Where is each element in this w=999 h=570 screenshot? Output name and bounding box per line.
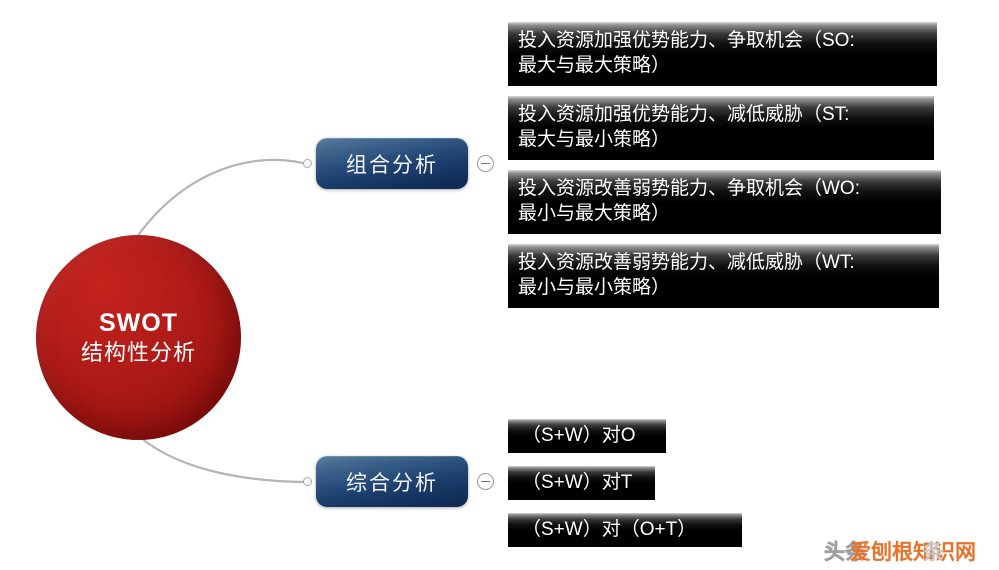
watermark: 头条 爱刨根知识网 条 <box>824 536 994 564</box>
mindmap-canvas: SWOT 结构性分析 组合分析 综合分析 投入资源加强优势能力、争取机会（SO:… <box>0 0 999 570</box>
root-node[interactable]: SWOT 结构性分析 <box>36 235 241 440</box>
branch-node-combined[interactable]: 组合分析 <box>316 138 468 189</box>
leaf-box-sw-ot[interactable]: （S+W）对（O+T） <box>508 513 742 547</box>
leaf-box-so[interactable]: 投入资源加强优势能力、争取机会（SO: 最大与最大策略） <box>508 22 937 86</box>
leaf-box-wt[interactable]: 投入资源改善弱势能力、减低威胁（WT: 最小与最小策略） <box>508 244 939 308</box>
watermark-accent: 爱刨根知识网 <box>850 536 976 566</box>
minus-circle-icon-combined[interactable] <box>477 155 494 172</box>
connector-endpoint-overall <box>303 477 312 486</box>
branch-label-combined: 组合分析 <box>346 149 438 179</box>
leaf-box-wo[interactable]: 投入资源改善弱势能力、争取机会（WO: 最小与最大策略） <box>508 170 941 234</box>
root-title-en: SWOT <box>99 309 178 339</box>
leaf-box-sw-t[interactable]: （S+W）对T <box>508 466 655 500</box>
connector-to-combined <box>130 160 303 247</box>
leaf-box-sw-o[interactable]: （S+W）对O <box>508 419 666 453</box>
branch-label-overall: 综合分析 <box>346 467 438 497</box>
minus-circle-icon-overall[interactable] <box>477 473 494 490</box>
leaf-box-st[interactable]: 投入资源加强优势能力、减低威胁（ST: 最大与最小策略） <box>508 96 934 160</box>
connector-endpoint-combined <box>303 159 312 168</box>
branch-node-overall[interactable]: 综合分析 <box>316 456 468 507</box>
root-title-cn: 结构性分析 <box>81 340 196 366</box>
watermark-tail: 条 <box>923 536 944 566</box>
